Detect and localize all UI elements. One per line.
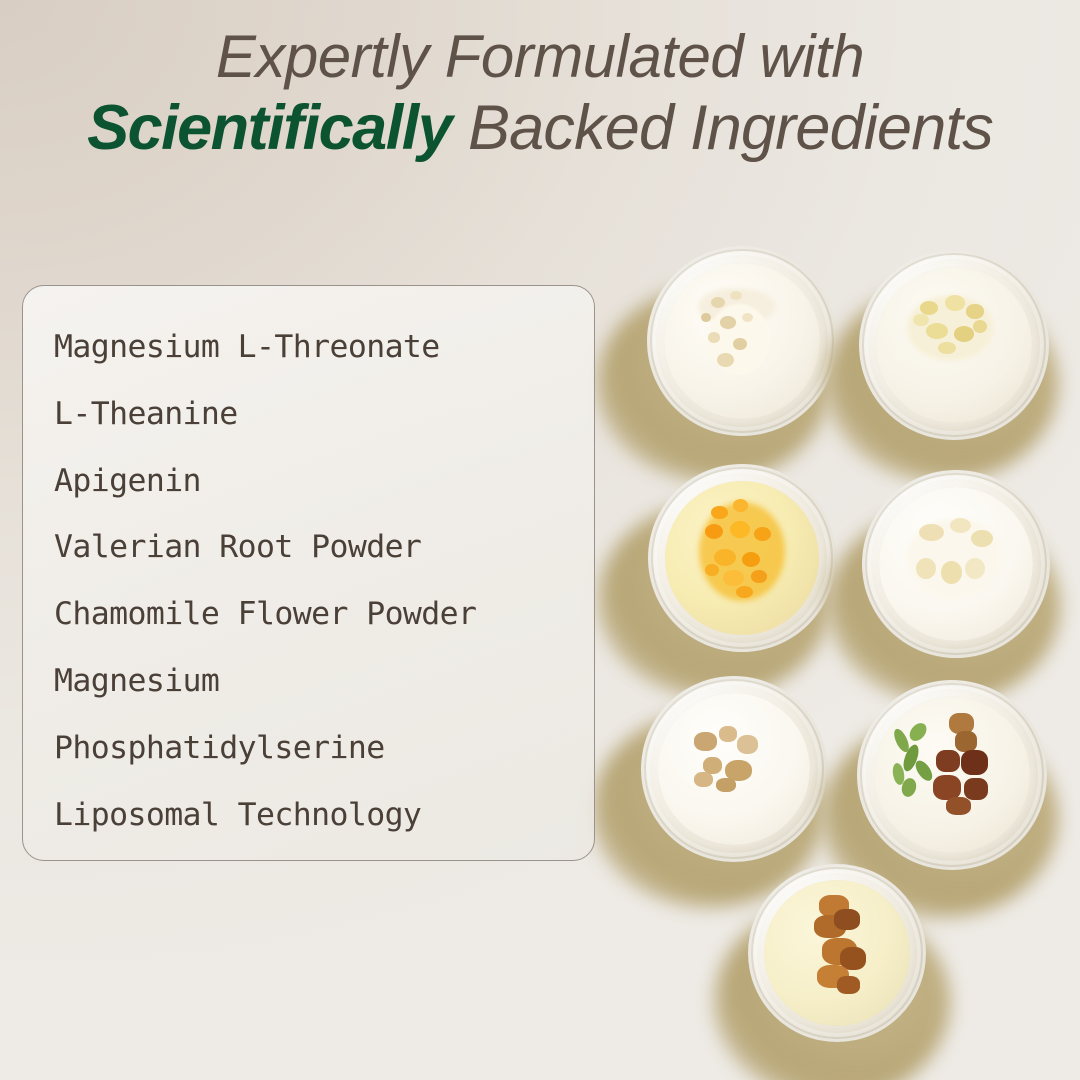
jar-chamomile-flower-powder	[857, 680, 1047, 870]
list-item: L-Theanine	[54, 381, 594, 448]
headline-highlight-word: Scientifically	[87, 93, 451, 163]
list-item: Phosphatidylserine	[54, 715, 594, 782]
list-item: Magnesium	[54, 648, 594, 715]
list-item: Liposomal Technology	[54, 782, 594, 849]
headline-line-2-rest: Backed Ingredients	[451, 93, 993, 163]
jar-apigenin	[648, 464, 836, 652]
ingredient-list: Magnesium L-Threonate L-Theanine Apigeni…	[54, 314, 594, 848]
list-item: Valerian Root Powder	[54, 514, 594, 581]
jar-valerian-root-powder	[862, 470, 1050, 658]
list-item: Magnesium L-Threonate	[54, 314, 594, 381]
headline-line-1: Expertly Formulated with	[0, 26, 1080, 88]
promo-canvas: Expertly Formulated with Scientifically …	[0, 0, 1080, 1080]
list-item: Apigenin	[54, 448, 594, 515]
jar-l-theanine	[859, 250, 1049, 440]
jar-phosphatidylserine	[748, 864, 926, 1042]
headline-line-2: Scientifically Backed Ingredients	[0, 96, 1080, 162]
page-title: Expertly Formulated with Scientifically …	[0, 26, 1080, 162]
jar-magnesium	[641, 676, 827, 862]
ingredient-list-card: Magnesium L-Threonate L-Theanine Apigeni…	[22, 285, 595, 861]
jar-magnesium-l-threonate	[647, 246, 837, 436]
list-item: Chamomile Flower Powder	[54, 581, 594, 648]
